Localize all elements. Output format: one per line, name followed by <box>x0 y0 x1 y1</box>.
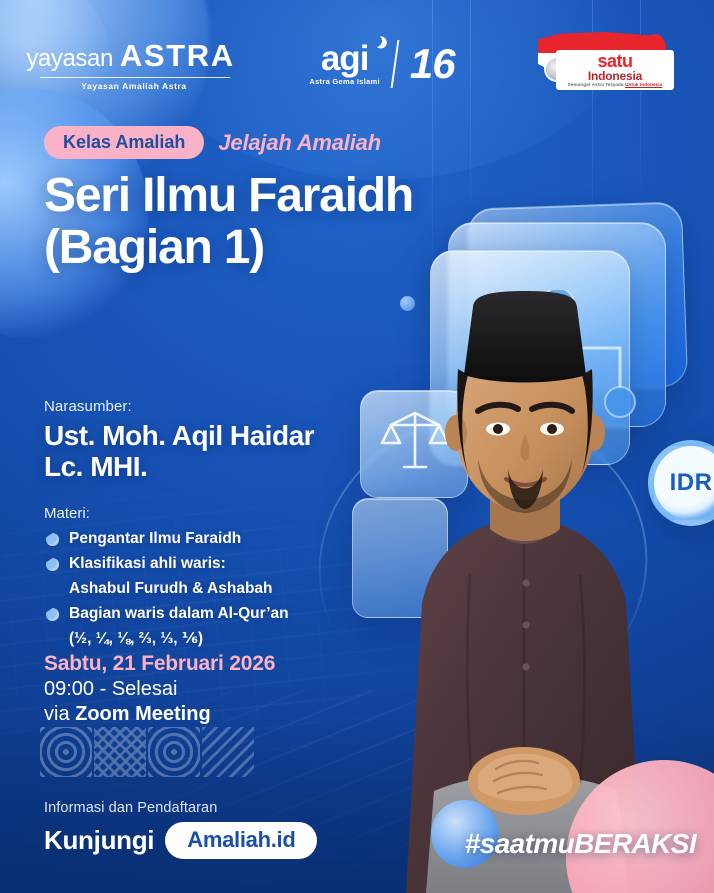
registration-cta: Kunjungi Amaliah.id <box>44 822 317 859</box>
list-item: Pengantar Ilmu Faraidh <box>44 528 289 550</box>
list-item-text: (½, ¼, ⅛, ⅔, ⅓, ⅙) <box>69 630 203 647</box>
program-badge-row: Kelas Amaliah Jelajah Amaliah <box>44 126 381 159</box>
materi-label: Materi: <box>44 505 289 522</box>
crescent-bullet-icon <box>46 608 59 621</box>
speaker-name-line-1: Ust. Moh. Aqil Haidar <box>44 420 314 451</box>
list-item: Klasifikasi ahli waris: <box>44 553 289 575</box>
registration-info: Informasi dan Pendaftaran <box>44 800 317 816</box>
list-item-text: Bagian waris dalam Al-Qur’an <box>69 605 289 622</box>
materi-block: Materi: Pengantar Ilmu Faraidh Klasifika… <box>44 505 289 653</box>
campaign-hashtag: #saatmuBERAKSI <box>465 828 696 860</box>
title-line-1: Seri Ilmu Faraidh <box>44 169 413 222</box>
crescent-bullet-icon <box>46 533 59 546</box>
page-title: Seri Ilmu Faraidh (Bagian 1) <box>44 170 413 274</box>
cta-prefix: Kunjungi <box>44 825 154 856</box>
promotional-poster: IDR <box>0 0 714 893</box>
event-platform-prefix: via <box>44 703 75 725</box>
schedule-block: Sabtu, 21 Februari 2026 09:00 - Selesai … <box>44 652 275 726</box>
list-item-continuation: Ashabul Furudh & Ashabah <box>44 578 289 600</box>
website-link-pill[interactable]: Amaliah.id <box>165 822 317 859</box>
program-subtitle: Jelajah Amaliah <box>218 130 380 156</box>
speaker-label: Narasumber: <box>44 398 314 415</box>
title-line-2: (Bagian 1) <box>44 222 413 274</box>
registration-footer: Informasi dan Pendaftaran Kunjungi Amali… <box>44 800 317 859</box>
event-platform-name: Zoom Meeting <box>75 703 211 725</box>
speaker-name: Ust. Moh. Aqil Haidar Lc. MHI. <box>44 420 314 483</box>
event-platform: via Zoom Meeting <box>44 703 275 726</box>
poster-content: Kelas Amaliah Jelajah Amaliah Seri Ilmu … <box>0 0 714 893</box>
materi-list: Pengantar Ilmu Faraidh Klasifikasi ahli … <box>44 528 289 650</box>
list-item-text: Ashabul Furudh & Ashabah <box>69 580 273 597</box>
crescent-bullet-icon <box>46 558 59 571</box>
list-item: Bagian waris dalam Al-Qur’an <box>44 603 289 625</box>
list-item-continuation: (½, ¼, ⅛, ⅔, ⅓, ⅙) <box>44 628 289 650</box>
program-chip: Kelas Amaliah <box>44 126 204 159</box>
speaker-block: Narasumber: Ust. Moh. Aqil Haidar Lc. MH… <box>44 398 314 483</box>
list-item-text: Klasifikasi ahli waris: <box>69 555 226 572</box>
speaker-name-line-2: Lc. MHI. <box>44 451 147 482</box>
event-time: 09:00 - Selesai <box>44 678 275 701</box>
list-item-text: Pengantar Ilmu Faraidh <box>69 530 241 547</box>
event-date: Sabtu, 21 Februari 2026 <box>44 652 275 676</box>
